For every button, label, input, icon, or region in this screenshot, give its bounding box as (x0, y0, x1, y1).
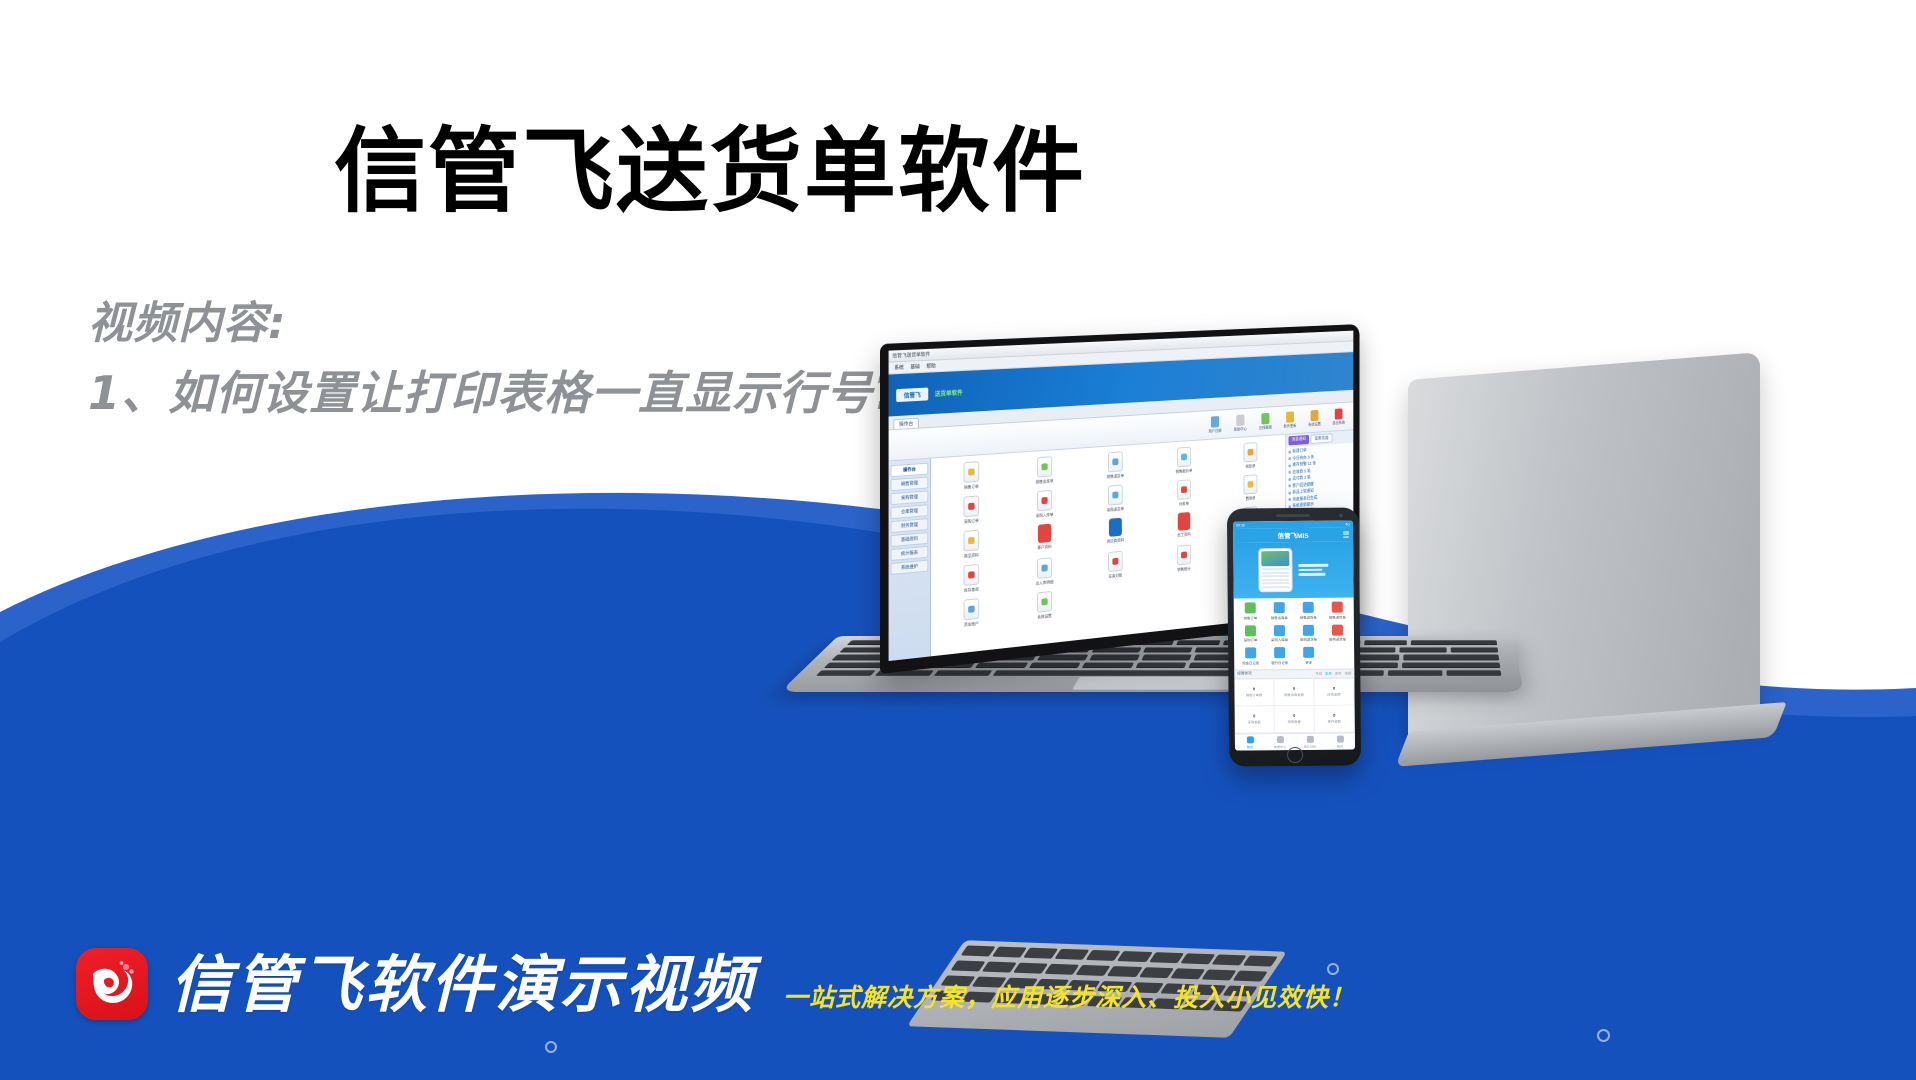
phone-stats-grid: 0销售订单数 0销售出库金额 0应收金额 0采购金额 0采购数量 0库存金额 (1234, 678, 1354, 734)
app-grid-item[interactable]: 供应商资料 (1082, 515, 1148, 548)
device-mockup-group: 信管飞送货单软件 系统 基础 帮助 信管飞 送货单软件 操作台 (880, 380, 1916, 940)
toolbar-button-help[interactable]: 帮助中心 (1231, 414, 1249, 433)
app-window-title: 信管飞送货单软件 (892, 351, 930, 360)
phone-stats-filter-all[interactable]: 全部 (1345, 671, 1352, 676)
phone-stat-cell: 0采购金额 (1235, 706, 1275, 734)
app-grid-item[interactable]: 付款单 (1152, 477, 1216, 509)
app-grid-label: 销售出库单 (1036, 478, 1054, 485)
toolbar-label: 系统设置 (1308, 421, 1321, 427)
phone-icon-grid: 销售订单 销售出库单 销售退货单 销售进货单 采购订单 采购入库单 采购退货单 … (1234, 597, 1355, 669)
sidebar-item-warehouse[interactable]: 仓库管理 (890, 504, 928, 519)
app-grid-item[interactable]: 采购订单 (936, 493, 1007, 527)
phone-nav-label: 单据中心 (1274, 744, 1287, 749)
phone-stat-cell: 0销售订单数 (1234, 679, 1274, 707)
app-grid-item[interactable]: 库存查询 (936, 561, 1007, 596)
phone-grid-label: 销售退货单 (1300, 614, 1317, 619)
phone-nav-label: 首页 (1247, 744, 1253, 749)
app-grid-label: 采购入库单 (1036, 512, 1054, 519)
hero-image (1261, 551, 1289, 566)
phone-grid-item[interactable]: 采购订单 (1237, 625, 1264, 643)
help-center-icon (1236, 414, 1244, 426)
phone-nav-home[interactable]: 首页 (1235, 734, 1265, 750)
phone-grid-item[interactable]: 银行日记账 (1266, 647, 1293, 665)
app-grid-label: 系统设置 (1037, 613, 1051, 620)
app-grid-label: 收款单 (1246, 463, 1256, 469)
decor-dot (1597, 1029, 1610, 1042)
phone-header: 信管飞MIS (1233, 527, 1353, 542)
app-grid-item[interactable]: 销售统计 (1152, 542, 1216, 575)
menu-item-system[interactable]: 系统 (894, 364, 903, 371)
app-grid-label: 商品资料 (964, 552, 979, 559)
menu-item-basic[interactable]: 基础 (910, 363, 919, 370)
hamburger-icon[interactable] (1343, 532, 1349, 538)
sidebar-item-reports[interactable]: 统计报表 (890, 546, 928, 561)
doc-icon (1276, 736, 1283, 743)
app-grid-label: 销售统计 (1177, 566, 1190, 573)
phone-stat-value: 0 (1333, 686, 1335, 691)
app-grid-item[interactable]: 销售出库单 (1010, 454, 1078, 487)
app-grid-item[interactable]: 客户资料 (1010, 521, 1078, 555)
app-grid-item[interactable]: 往来对账 (1082, 548, 1148, 582)
exit-icon (1335, 408, 1343, 419)
toolbar-label: 退出系统 (1332, 419, 1344, 425)
phone-grid-label: 采购退货单 (1300, 637, 1317, 642)
sidebar-item-sales[interactable]: 销售管理 (890, 477, 928, 492)
app-grid-item[interactable]: 销售报价单 (1152, 445, 1216, 477)
phone-stat-value: 0 (1293, 686, 1295, 691)
toolbar-button-update[interactable]: 软件更新 (1281, 411, 1298, 429)
app-banner-logo: 信管飞 (896, 387, 928, 402)
phone-stat-cell: 0库存金额 (1315, 705, 1355, 733)
phone-stat-cell: 0采购数量 (1275, 706, 1315, 734)
user-icon (1336, 735, 1343, 742)
phone-stat-value: 0 (1293, 713, 1295, 718)
app-grid-label: 销售订单 (964, 484, 979, 491)
app-grid-item[interactable]: 采购入库单 (1010, 488, 1078, 521)
toolbar-label: 帮助中心 (1234, 426, 1247, 432)
right-tab-messages[interactable]: 消息通知 (1288, 435, 1309, 445)
phone-grid-item[interactable]: 销售进货单 (1324, 602, 1351, 620)
app-grid-label: 采购退货单 (1107, 506, 1124, 513)
phone-stat-label: 采购数量 (1288, 719, 1301, 724)
phone-grid-item[interactable]: 采购退货单 (1295, 624, 1322, 642)
phone-nav-label: 统计分析 (1304, 743, 1317, 748)
toolbar-label: 软件更新 (1284, 423, 1297, 429)
phone-grid-item[interactable]: 销售出库单 (1266, 602, 1293, 620)
phone-grid-item[interactable]: 更多 (1295, 647, 1322, 665)
app-grid-item[interactable]: 资金账户 (936, 595, 1007, 631)
sidebar-item-finance[interactable]: 财务管理 (890, 518, 928, 533)
phone-stats-label: 经营状况 (1237, 671, 1251, 676)
sidebar-item-purchase[interactable]: 采购管理 (890, 490, 928, 505)
phone-grid-label: 销售订单 (1244, 615, 1258, 620)
app-grid-label: 销售退货单 (1107, 473, 1124, 480)
app-grid-label: 采购订单 (964, 518, 979, 525)
user-register-icon (1211, 416, 1219, 428)
phone-stat-label: 库存金额 (1328, 719, 1341, 724)
sidebar-item-basedata[interactable]: 基础资料 (890, 532, 928, 547)
app-grid-label: 出入库明细 (1036, 579, 1054, 587)
phone-grid-item[interactable]: 现金日记账 (1237, 647, 1264, 665)
toolbar-button-register[interactable]: 用户注册 (1206, 415, 1224, 434)
laptop-trackpad (1071, 676, 1240, 690)
app-grid-label: 往来对账 (1109, 573, 1123, 580)
app-grid-item[interactable]: 费用单 (1219, 472, 1281, 504)
online-service-icon (1261, 412, 1269, 423)
app-grid-item[interactable]: 销售订单 (936, 459, 1007, 493)
app-grid-label: 员工资料 (1177, 532, 1190, 539)
app-grid-label: 费用单 (1246, 495, 1256, 501)
phone-stat-value: 0 (1253, 686, 1255, 691)
phone-stat-value: 0 (1333, 713, 1335, 718)
slide-stage: 信管飞送货单软件 视频内容: 1、如何设置让打印表格一直显示行号? (0, 0, 1916, 1080)
app-grid-label: 付款单 (1179, 501, 1189, 507)
phone-grid-label: 现金日记账 (1242, 660, 1259, 665)
sidebar-item-maintenance[interactable]: 系统维护 (890, 560, 928, 575)
phone-stat-label: 采购金额 (1248, 720, 1261, 725)
phone-grid-label: 采购入库单 (1271, 637, 1288, 642)
home-icon (1246, 736, 1253, 743)
app-grid-label: 客户资料 (1037, 544, 1051, 551)
phone-grid-item[interactable]: 采购进货单 (1324, 624, 1351, 642)
gear-icon (1311, 409, 1319, 420)
footer-brand-row: 信管飞软件演示视频 一站式解决方案，应用逐步深入、投入小见效快！ (76, 948, 1355, 1020)
app-sidebar: 操作台 销售管理 采购管理 仓库管理 财务管理 基础资料 统计报表 系统维护 (889, 459, 931, 661)
decor-dot (545, 1041, 557, 1053)
phone-grid-label: 银行日记账 (1271, 660, 1288, 665)
app-grid-label: 销售报价单 (1176, 468, 1193, 475)
page-title: 信管飞送货单软件 (0, 124, 1420, 221)
app-banner-logo-text: 信管飞 (904, 389, 921, 399)
right-tab-shortcuts[interactable]: 常用功能 (1311, 433, 1333, 444)
app-grid-item[interactable]: 员工资料 (1152, 510, 1216, 543)
phone-home-button[interactable] (1287, 747, 1303, 763)
phone-stat-value: 0 (1253, 714, 1255, 719)
app-grid-item[interactable]: 出入库明细 (1010, 555, 1078, 589)
app-grid-label: 库存查询 (964, 586, 979, 593)
phone-stat-label: 应收金额 (1327, 692, 1340, 697)
phone-grid-label: 销售出库单 (1271, 615, 1288, 620)
app-grid-item[interactable]: 收款单 (1219, 440, 1281, 471)
app-grid-label: 资金账户 (964, 621, 979, 628)
toolbar-button-exit[interactable]: 退出系统 (1330, 408, 1347, 426)
app-grid-item[interactable]: 商品资料 (936, 527, 1007, 562)
phone-stat-label: 销售出库金额 (1284, 692, 1304, 697)
phone-nav-profile[interactable]: 我的 (1325, 733, 1355, 749)
phone-grid-label: 采购进货单 (1329, 637, 1346, 642)
phone-stat-label: 销售订单数 (1246, 692, 1263, 697)
phone-app-title: 信管飞MIS (1278, 530, 1309, 540)
sidebar-item-console[interactable]: 操作台 (890, 463, 928, 478)
phone-grid-item[interactable]: 销售退货单 (1295, 602, 1322, 620)
brand-tagline: 一站式解决方案，应用逐步深入、投入小见效快！ (783, 985, 1355, 1020)
phone-stats-filter-month[interactable]: 本月 (1325, 671, 1332, 676)
phone-speaker (1276, 514, 1310, 517)
menu-item-help[interactable]: 帮助 (926, 362, 935, 369)
app-grid-item[interactable]: 系统设置 (1010, 588, 1078, 623)
phone-mockup: 09:36 4G 信管飞MIS (1227, 507, 1361, 766)
phone-status-network: 4G (1345, 522, 1350, 526)
phone-grid-label: 更多 (1305, 659, 1312, 664)
hero-phone-illustration (1258, 548, 1292, 592)
phone-stats-filter-year[interactable]: 本年 (1335, 671, 1342, 676)
phone-stats-filter-today[interactable]: 今日 (1315, 671, 1322, 676)
phone-grid-item[interactable]: 采购入库单 (1266, 625, 1293, 643)
toolbar-button-service[interactable]: 在线客服 (1257, 412, 1275, 431)
app-grid-item[interactable]: 销售退货单 (1082, 450, 1148, 482)
app-banner-subtitle: 送货单软件 (935, 387, 963, 397)
toolbar-label: 用户注册 (1208, 427, 1221, 433)
app-grid-label: 供应商资料 (1107, 537, 1124, 544)
tab-console[interactable]: 操作台 (893, 418, 919, 429)
toolbar-label: 在线客服 (1259, 424, 1272, 430)
hero-text-lines (1298, 564, 1328, 576)
phone-grid-label: 采购订单 (1244, 637, 1258, 642)
phone-hero-banner (1233, 541, 1353, 598)
toolbar-button-settings[interactable]: 系统设置 (1306, 409, 1323, 427)
xinguanfei-bird-logo-icon (76, 948, 148, 1020)
phone-status-time: 09:36 (1236, 523, 1245, 527)
software-update-icon (1286, 411, 1294, 422)
phone-stat-cell: 0应收金额 (1314, 678, 1354, 706)
chart-icon (1306, 735, 1313, 742)
phone-nav-label: 我的 (1337, 743, 1343, 748)
phone-grid-item[interactable]: 销售订单 (1237, 602, 1264, 620)
phone-stat-cell: 0销售出库金额 (1274, 678, 1314, 706)
phone-camera-icon (1339, 513, 1343, 517)
brand-name: 信管飞软件演示视频 (170, 954, 755, 1020)
laptop-open-front: 信管飞送货单软件 系统 基础 帮助 信管飞 送货单软件 操作台 (880, 344, 1500, 764)
phone-screen: 09:36 4G 信管飞MIS (1233, 520, 1355, 750)
app-grid-item[interactable]: 采购退货单 (1082, 483, 1148, 516)
phone-grid-label: 销售进货单 (1329, 614, 1346, 619)
